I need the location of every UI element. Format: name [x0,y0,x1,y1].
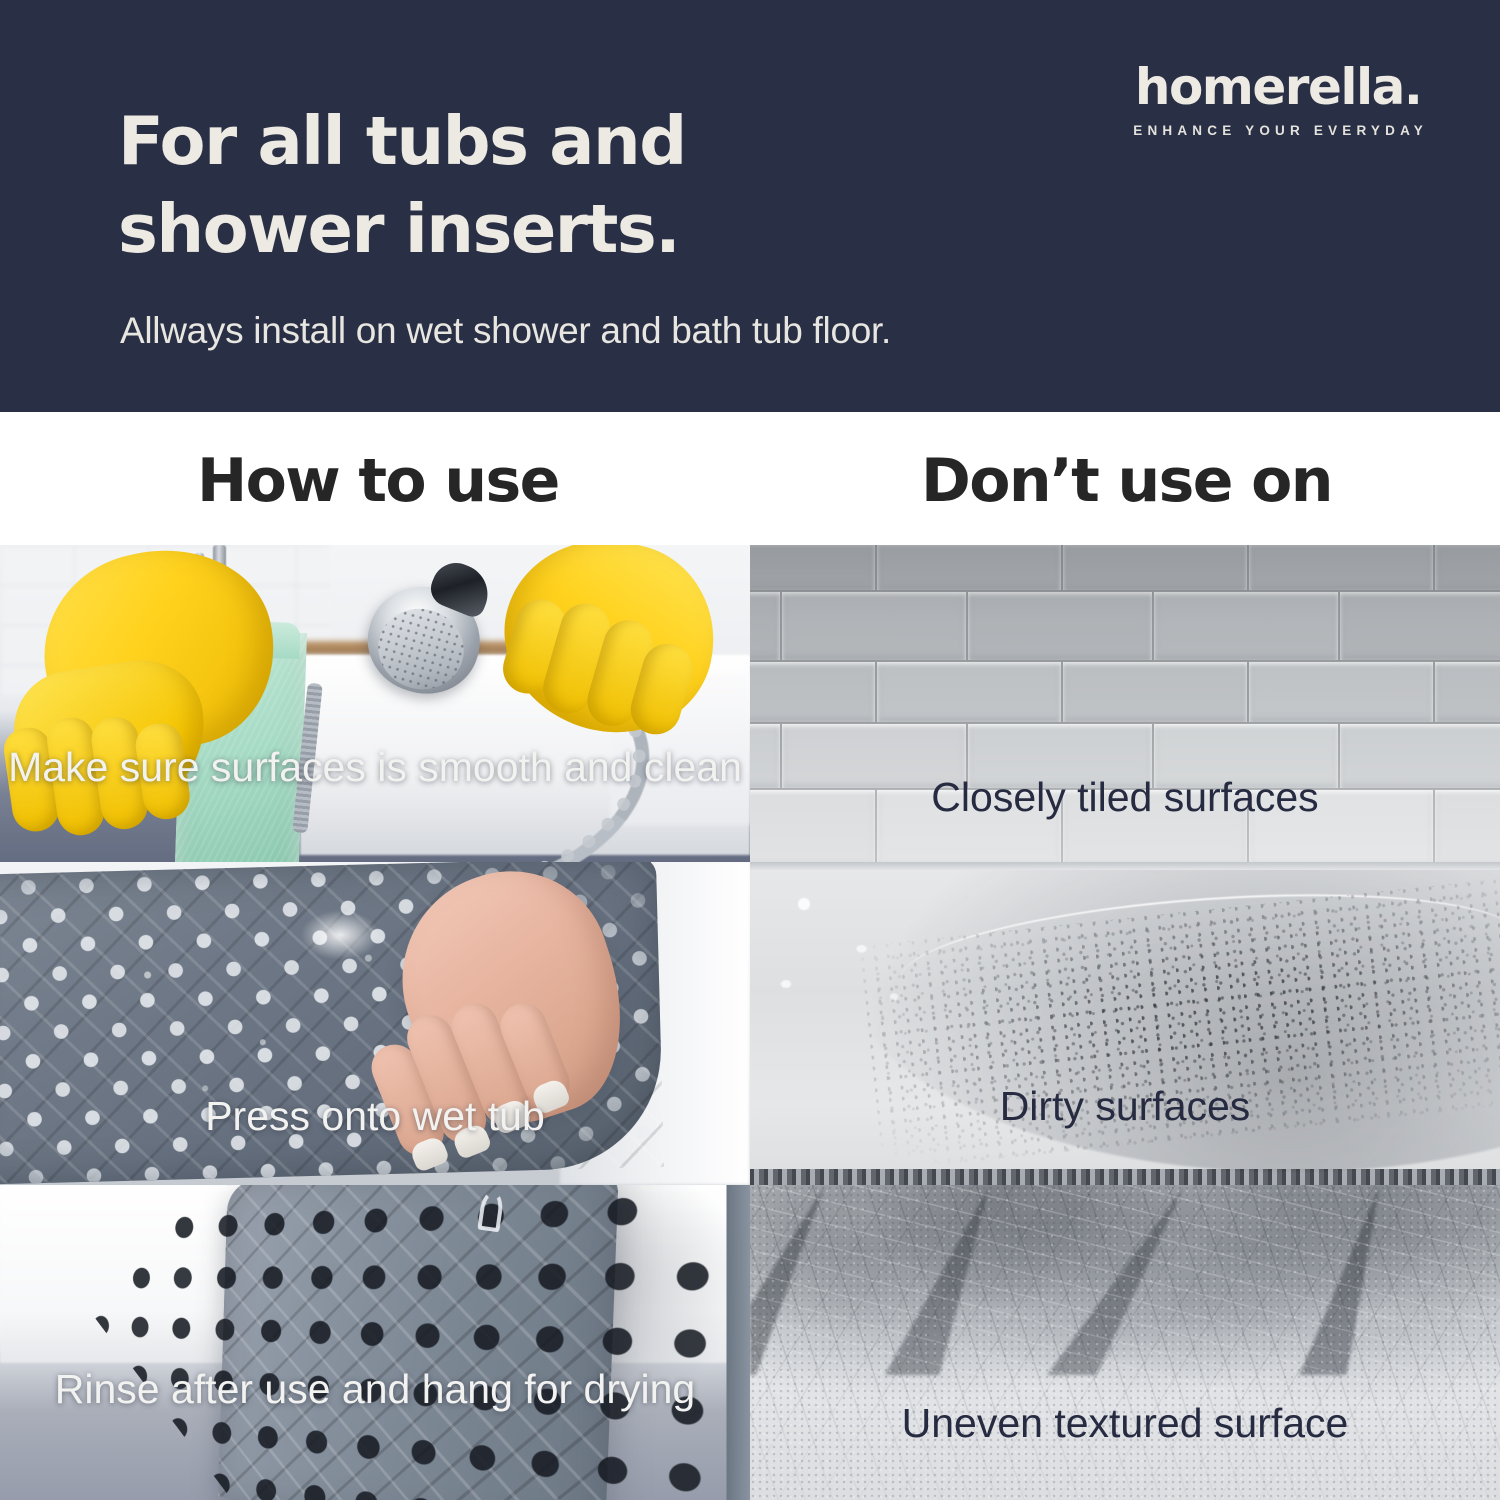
brand-name: homerella. [1128,60,1428,114]
dont-use-on-step-2-panel: Dirty surfaces [750,862,1500,1185]
water-spots [750,872,930,1032]
top-edge-band [750,862,1500,870]
bottom-edge-band [750,1169,1500,1185]
header-banner: For all tubs and shower inserts. Allways… [0,0,1500,412]
how-to-use-step-2-panel: Press onto wet tub [0,862,750,1185]
section-title-dont-use-on: Don’t use on [921,446,1332,516]
infographic-page: For all tubs and shower inserts. Allways… [0,0,1500,1500]
gray-bath-mat-hanging [218,1185,619,1500]
section-title-how-to-use: How to use [197,446,559,516]
dont-use-on-step-3-panel: Uneven textured surface [750,1185,1500,1500]
how-to-use-step-3-panel: Rinse after use and hang for drying [0,1185,750,1500]
stone-grain [750,1185,1500,1500]
panel-grid: Make sure surfaces is smooth and clean [0,545,1500,1500]
mat-highlight-gloss [300,910,380,960]
brand-logo: homerella. ENHANCE YOUR EVERYDAY [1128,60,1428,138]
brand-tagline: ENHANCE YOUR EVERYDAY [1128,123,1428,138]
page-subtitle: Allways install on wet shower and bath t… [120,310,1320,352]
dont-use-on-step-1-panel: Closely tiled surfaces [750,545,1500,862]
section-titles-band: How to use Don’t use on [0,412,1500,545]
mat-side-edge [727,1185,750,1500]
page-title: For all tubs and shower inserts. [118,97,878,273]
subway-tile-wall [750,545,1500,862]
how-to-use-step-1-panel: Make sure surfaces is smooth and clean [0,545,750,862]
